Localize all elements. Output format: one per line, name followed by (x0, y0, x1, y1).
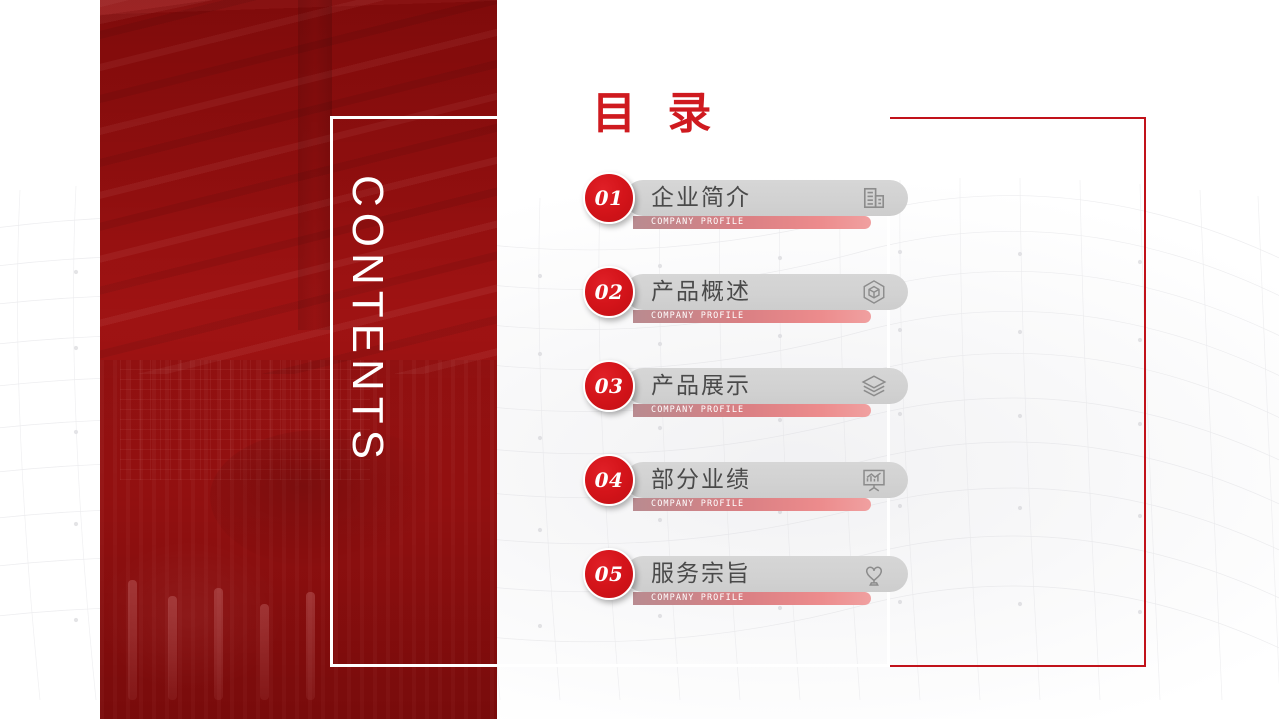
item-number-badge: 05 (583, 548, 635, 600)
item-subtitle: COMPANY PROFILE (651, 404, 744, 417)
presentation-chart-icon (861, 467, 887, 493)
heart-trophy-icon (861, 561, 887, 587)
item-label: 产品概述 (651, 276, 751, 308)
item-subtitle: COMPANY PROFILE (651, 498, 744, 511)
item-number-badge: 02 (583, 266, 635, 318)
item-number-badge: 04 (583, 454, 635, 506)
red-photo-tint (100, 0, 497, 719)
page-title: 目 录 (592, 92, 719, 136)
item-label: 企业简介 (651, 182, 751, 214)
item-subtitle: COMPANY PROFILE (651, 216, 744, 229)
building-icon (861, 185, 887, 211)
left-photo-panel (100, 0, 497, 719)
item-label: 产品展示 (651, 370, 751, 402)
item-subtitle: COMPANY PROFILE (651, 310, 744, 323)
slide-root: CONTENTS 目 录 COMPANY PROFILE 企业简介 01 (0, 0, 1279, 719)
cube-hexagon-icon (861, 279, 887, 305)
item-number-badge: 01 (583, 172, 635, 224)
item-label: 部分业绩 (651, 464, 751, 496)
item-number-badge: 03 (583, 360, 635, 412)
contents-vertical-label: CONTENTS (342, 175, 392, 415)
layers-icon (861, 373, 887, 399)
item-label: 服务宗旨 (651, 558, 751, 590)
item-subtitle: COMPANY PROFILE (651, 592, 744, 605)
